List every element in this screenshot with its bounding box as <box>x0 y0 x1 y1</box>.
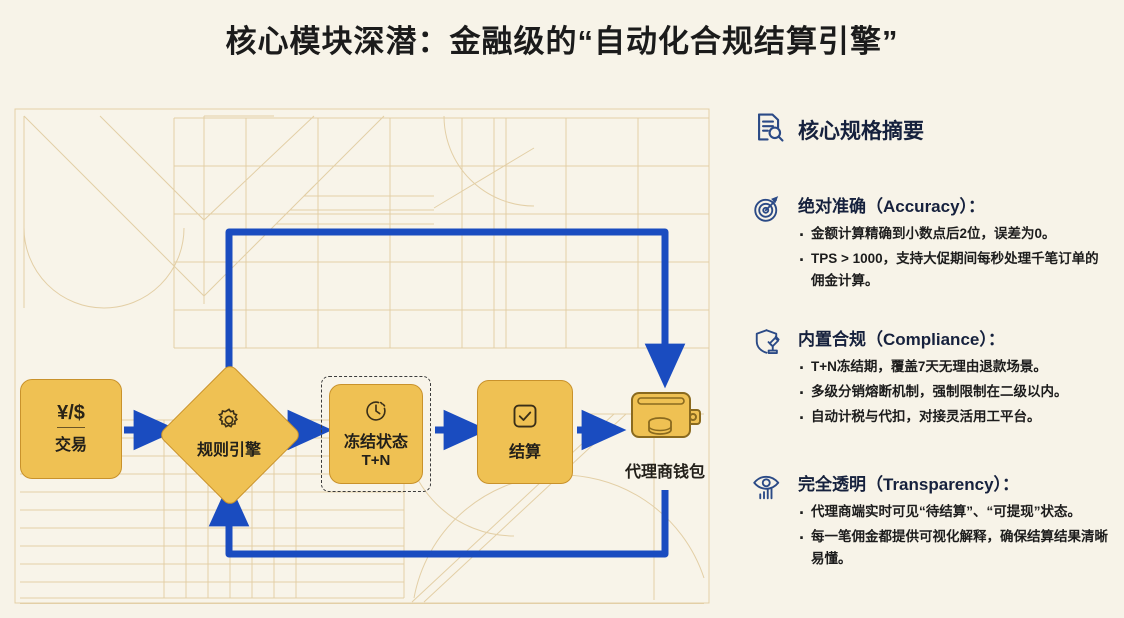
spec-section-transparency-body: 完全透明（Transparency）： 代理商端实时可见“待结算”、“可提现”状… <box>798 470 1112 573</box>
page-title: 核心模块深潜：金融级的“自动化合规结算引擎” <box>0 16 1124 61</box>
spec-section-compliance-body: 内置合规（Compliance）： T+N冻结期，覆盖7天无理由退款场景。 多级… <box>798 325 1112 431</box>
eye-chart-icon <box>752 470 786 573</box>
spec-section-transparency-bullets: 代理商端实时可见“待结算”、“可提现”状态。 每一笔佣金都提供可视化解释，确保结… <box>798 501 1112 570</box>
bullet-item: TPS > 1000，支持大促期间每秒处理千笔订单的佣金计算。 <box>798 248 1112 292</box>
flow-node-settle-label: 结算 <box>509 444 541 462</box>
clock-icon <box>363 398 389 429</box>
diamond-content: 规则引擎 <box>169 374 289 494</box>
bullet-item: T+N冻结期，覆盖7天无理由退款场景。 <box>798 356 1112 378</box>
target-icon <box>752 192 786 295</box>
spec-summary-title: 核心规格摘要 <box>798 115 924 145</box>
shield-gavel-icon <box>752 325 786 431</box>
spec-section-accuracy-title: 绝对准确（Accuracy）： <box>798 192 1112 217</box>
spec-section-accuracy-body: 绝对准确（Accuracy）： 金额计算精确到小数点后2位，误差为0。 TPS … <box>798 192 1112 295</box>
spec-section-compliance: 内置合规（Compliance）： T+N冻结期，覆盖7天无理由退款场景。 多级… <box>752 325 1112 431</box>
spec-section-accuracy: 绝对准确（Accuracy）： 金额计算精确到小数点后2位，误差为0。 TPS … <box>752 192 1112 295</box>
spec-section-compliance-title: 内置合规（Compliance）： <box>798 325 1112 350</box>
spec-section-transparency-title: 完全透明（Transparency）： <box>798 470 1112 495</box>
flow-node-freeze-label: 冻结状态 <box>344 434 408 452</box>
flow-node-freeze[interactable]: 冻结状态 T+N <box>329 384 423 484</box>
bullet-item: 每一笔佣金都提供可视化解释，确保结算结果清晰易懂。 <box>798 526 1112 570</box>
currency-icon: ¥/$ <box>57 402 85 428</box>
check-square-icon <box>510 401 540 436</box>
bullet-item: 金额计算精确到小数点后2位，误差为0。 <box>798 223 1112 245</box>
flow-node-transaction[interactable]: ¥/$ 交易 <box>20 379 122 479</box>
flow-node-wallet[interactable]: 代理商钱包 <box>613 383 710 487</box>
diagram-panel: ¥/$ 交易 规则引擎 <box>14 108 710 604</box>
flow-node-wallet-label: 代理商钱包 <box>625 458 705 482</box>
spec-summary-heading: 核心规格摘要 <box>752 110 1112 149</box>
spec-section-compliance-bullets: T+N冻结期，覆盖7天无理由退款场景。 多级分销熔断机制，强制限制在二级以内。 … <box>798 356 1112 428</box>
flow-node-transaction-label: 交易 <box>55 437 87 455</box>
spec-section-accuracy-bullets: 金额计算精确到小数点后2位，误差为0。 TPS > 1000，支持大促期间每秒处… <box>798 223 1112 292</box>
bullet-item: 多级分销熔断机制，强制限制在二级以内。 <box>798 381 1112 403</box>
flow-arrows <box>14 108 710 604</box>
bullet-item: 自动计税与代扣，对接灵活用工平台。 <box>798 406 1112 428</box>
gear-icon <box>216 407 242 438</box>
slide-root: 核心模块深潜：金融级的“自动化合规结算引擎” <box>0 0 1124 618</box>
flow-node-rule-engine-label: 规则引擎 <box>197 442 261 460</box>
document-search-icon <box>752 110 786 149</box>
flow-node-settle[interactable]: 结算 <box>477 380 573 484</box>
wallet-icon <box>628 383 702 454</box>
spec-section-transparency: 完全透明（Transparency）： 代理商端实时可见“待结算”、“可提现”状… <box>752 470 1112 573</box>
bullet-item: 代理商端实时可见“待结算”、“可提现”状态。 <box>798 501 1112 523</box>
spec-summary-panel: 核心规格摘要 绝对准确（Accuracy）： 金额计算精确到小数点后2位，误差为… <box>752 110 1112 153</box>
flow-node-freeze-sublabel: T+N <box>362 452 391 470</box>
flow-node-rule-engine[interactable]: 规则引擎 <box>169 374 289 494</box>
